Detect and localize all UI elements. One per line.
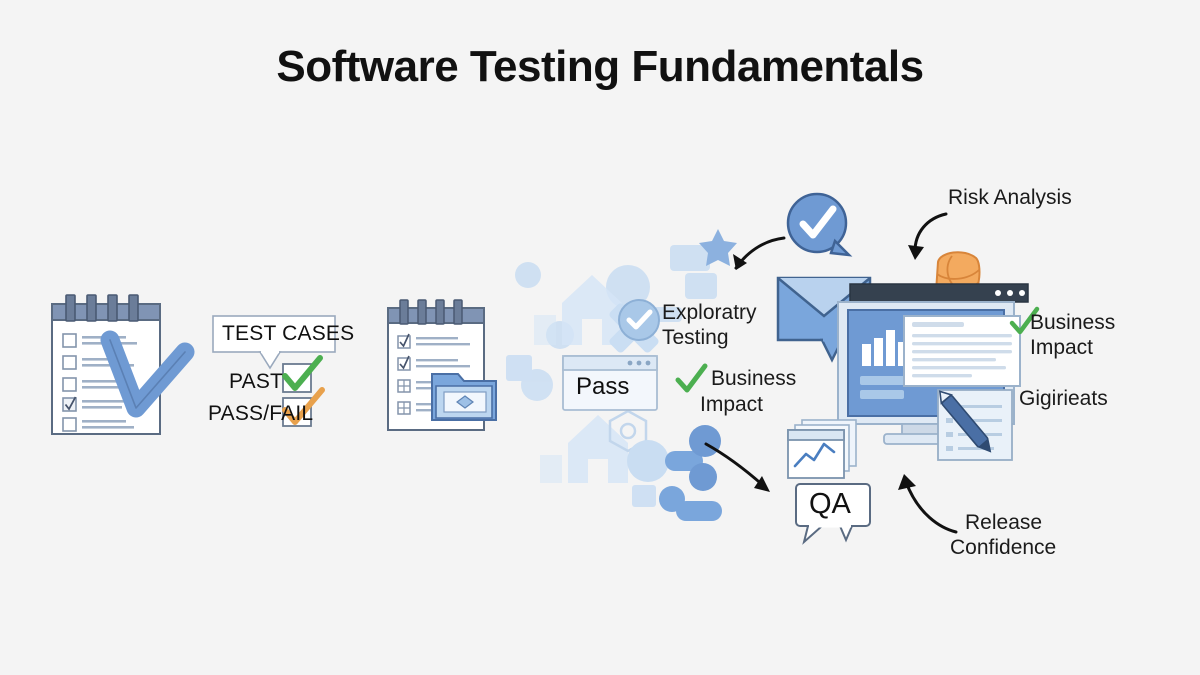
test-cases-row-past: PAST [229, 370, 283, 394]
risk-analysis-label: Risk Analysis [948, 185, 1072, 210]
business-impact-left-line2: Impact [700, 392, 763, 417]
line-chart-icon [786, 418, 860, 484]
exploratory-check-badge [615, 296, 663, 344]
release-confidence-line2: Confidence [950, 535, 1056, 560]
qa-left-arrow-icon [702, 440, 778, 502]
business-impact-left-check [674, 362, 708, 396]
business-impact-right-line2: Impact [1030, 335, 1093, 360]
folder-icon [432, 374, 496, 420]
exploratory-testing-label-line2: Testing [662, 325, 729, 350]
release-confidence-arrow-icon [884, 470, 964, 538]
release-confidence-line1: Release [965, 510, 1042, 535]
garbled-label: Gigirieats [1019, 386, 1108, 411]
house-icon [540, 415, 628, 483]
green-check-icon [678, 366, 705, 390]
pass-window: Pass [562, 355, 658, 411]
checklist-clipboard [40, 292, 200, 442]
page-title: Software Testing Fundamentals [0, 42, 1200, 92]
test-cases-row-passfail: PASS/FAIL [208, 402, 313, 426]
test-cases-card: TEST CASES PAST PASS/FAIL [208, 312, 348, 432]
pass-window-label: Pass [576, 373, 629, 401]
qa-bubble: QA [794, 482, 872, 544]
pen-note-icon [934, 378, 1020, 464]
business-impact-left-line1: Business [711, 366, 796, 391]
test-cases-bubble-label: TEST CASES [222, 322, 354, 346]
business-impact-right-line1: Business [1030, 310, 1115, 335]
qa-bubble-label: QA [809, 488, 851, 521]
risk-analysis-arrow-icon [906, 212, 956, 268]
exploratory-testing-label-line1: Exploratry [662, 300, 757, 325]
check-bubble-icon [783, 191, 855, 263]
slide-canvas: Software Testing Fundamentals [0, 0, 1200, 675]
folder-clipboard [378, 298, 518, 438]
